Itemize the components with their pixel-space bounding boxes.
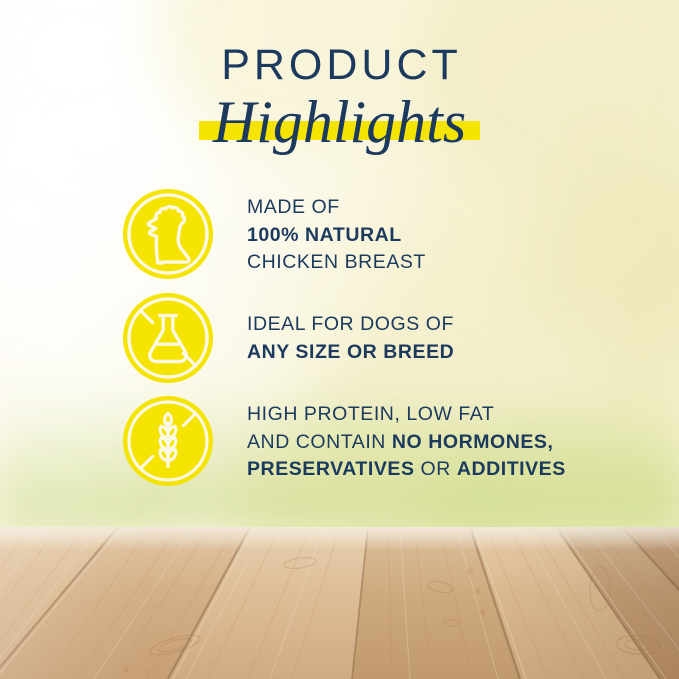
highlight-text: IDEAL FOR DOGS OF ANY SIZE OR BREED xyxy=(247,292,454,366)
highlight-line: HIGH PROTEIN, LOW FAT xyxy=(247,401,566,429)
highlight-row: IDEAL FOR DOGS OF ANY SIZE OR BREED xyxy=(0,292,679,384)
title-product: PRODUCT xyxy=(0,44,679,87)
highlight-row: MADE OF 100% NATURAL CHICKEN BREAST xyxy=(0,188,679,280)
highlight-line: ANY SIZE OR BREED xyxy=(247,339,454,367)
page-title: PRODUCT Highlights xyxy=(0,44,679,154)
highlight-text: HIGH PROTEIN, LOW FAT AND CONTAIN NO HOR… xyxy=(247,395,566,484)
highlight-line: CHICKEN BREAST xyxy=(247,249,426,277)
highlight-line: MADE OF xyxy=(247,194,426,222)
title-highlights-wrap: Highlights xyxy=(213,91,466,154)
highlights-list: MADE OF 100% NATURAL CHICKEN BREAST xyxy=(0,188,679,498)
wooden-floor xyxy=(0,527,679,679)
no-grain-wheat-icon xyxy=(122,395,214,487)
highlight-row: HIGH PROTEIN, LOW FAT AND CONTAIN NO HOR… xyxy=(0,395,679,487)
highlight-line: PRESERVATIVES OR ADDITIVES xyxy=(247,456,566,484)
highlight-line: IDEAL FOR DOGS OF xyxy=(247,311,454,339)
product-highlights-graphic: PRODUCT Highlights xyxy=(0,0,679,679)
chicken-icon xyxy=(122,188,214,280)
highlight-text: MADE OF 100% NATURAL CHICKEN BREAST xyxy=(247,188,426,277)
title-highlights: Highlights xyxy=(213,89,466,155)
highlight-line: 100% NATURAL xyxy=(247,222,426,250)
highlight-line: AND CONTAIN NO HORMONES, xyxy=(247,429,566,457)
no-chemicals-flask-icon xyxy=(122,292,214,384)
